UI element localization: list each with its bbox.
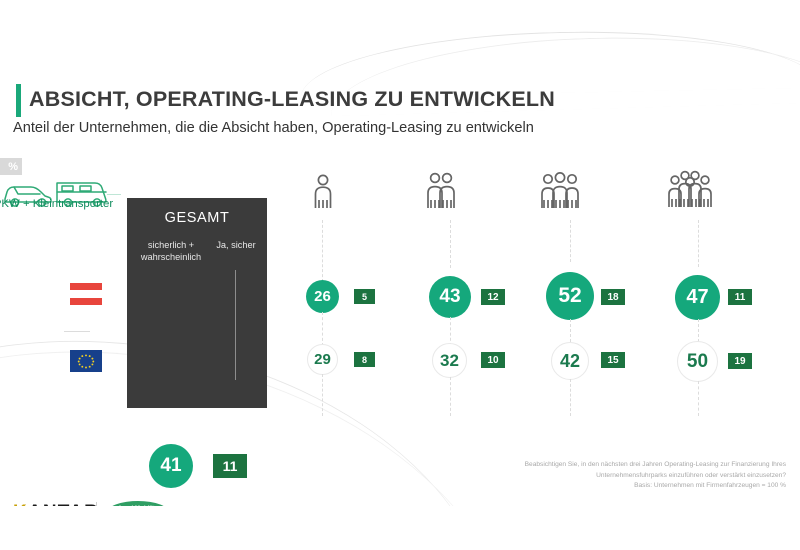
footnote: Beabsichtigen Sie, in den nächsten drei …: [456, 460, 786, 492]
column-3-austria-circle: 52: [546, 272, 594, 320]
column-1-dash-bottom: [322, 374, 323, 416]
person-1-icon: [308, 172, 338, 216]
legend-divider: [64, 331, 90, 332]
gesamt-col-a-header: sicherlich + wahrscheinlich: [135, 240, 207, 264]
page-subtitle: Anteil der Unternehmen, die die Absicht …: [13, 120, 534, 136]
column-4-dash-mid: [698, 319, 699, 342]
person-3-icon: [532, 168, 590, 216]
column-2-dash-bottom: [450, 377, 451, 416]
column-4-dash-bottom: [698, 381, 699, 416]
arval-mobility-observatory-logo: Arval Mobility Observatory: [107, 501, 169, 506]
column-1-europe-chip: 8: [354, 352, 375, 367]
column-1-austria-chip: 5: [354, 289, 375, 304]
gesamt-col-divider: [235, 270, 236, 380]
column-2-austria-circle: 43: [429, 276, 471, 318]
column-3-austria-chip: 18: [601, 289, 625, 305]
title-accent-bar: [16, 84, 21, 117]
column-1-icon: [288, 172, 358, 221]
column-1-austria-circle: 26: [306, 280, 339, 313]
slide-root: ABSICHT, OPERATING-LEASING ZU ENTWICKELN…: [0, 0, 800, 550]
page-title: ABSICHT, OPERATING-LEASING ZU ENTWICKELN: [29, 87, 555, 112]
gesamt-col-a-header-line2: wahrscheinlich: [135, 252, 207, 264]
slide-canvas: ABSICHT, OPERATING-LEASING ZU ENTWICKELN…: [0, 28, 800, 506]
flag-austria-icon: [70, 283, 102, 305]
column-2-austria-chip: 12: [481, 289, 505, 305]
kantar-logo: KANTAR: [13, 502, 99, 506]
column-2-dash-top: [450, 220, 451, 268]
column-4-europe-circle: 50: [677, 341, 718, 382]
footnote-line-2: Unternehmensfuhrparks einzuführen oder v…: [456, 471, 786, 482]
gesamt-panel: GESAMT sicherlich + wahrscheinlich Ja, s…: [127, 198, 267, 408]
person-2-icon: [419, 168, 463, 216]
column-2-europe-circle: 32: [432, 343, 467, 378]
footnote-line-3: Basis: Unternehmen mit Firmenfahrzeugen …: [456, 481, 786, 492]
column-2-europe-chip: 10: [481, 352, 505, 368]
column-4-dash-top: [698, 220, 699, 267]
gesamt-austria-chip: 11: [213, 454, 247, 478]
column-3-dash-bottom: [570, 379, 571, 416]
column-3-dash-top: [570, 220, 571, 262]
gesamt-col-b-header: Ja, sicher: [209, 240, 263, 252]
column-3-dash-mid: [570, 319, 571, 342]
kantar-logo-initial: K: [13, 502, 28, 506]
amo-line-1: Arval Mobility: [118, 505, 159, 506]
vehicle-type-label: PKW + Kleintransporter: [0, 198, 121, 210]
person-5-icon: [660, 166, 722, 216]
footnote-line-1: Beabsichtigen Sie, in den nächsten drei …: [456, 460, 786, 471]
column-4-austria-circle: 47: [675, 275, 720, 320]
column-3-europe-chip: 15: [601, 352, 625, 368]
column-1-dash-mid: [322, 312, 323, 346]
column-2-icon: [406, 168, 476, 221]
gesamt-panel-title: GESAMT: [127, 210, 267, 226]
column-2-dash-mid: [450, 317, 451, 346]
gesamt-austria-circle: 41: [149, 444, 193, 488]
column-1-europe-circle: 29: [307, 344, 338, 375]
gesamt-col-a-header-line1: sicherlich +: [135, 240, 207, 252]
column-3-europe-circle: 42: [551, 342, 589, 380]
flag-europe-icon: [70, 350, 102, 372]
column-4-icon: [656, 166, 726, 221]
column-3-icon: [526, 168, 596, 221]
logo-separator: [96, 502, 97, 506]
kantar-logo-text: ANTAR: [28, 502, 99, 506]
column-4-europe-chip: 19: [728, 353, 752, 369]
column-1-dash-top: [322, 220, 323, 282]
column-4-austria-chip: 11: [728, 289, 752, 305]
